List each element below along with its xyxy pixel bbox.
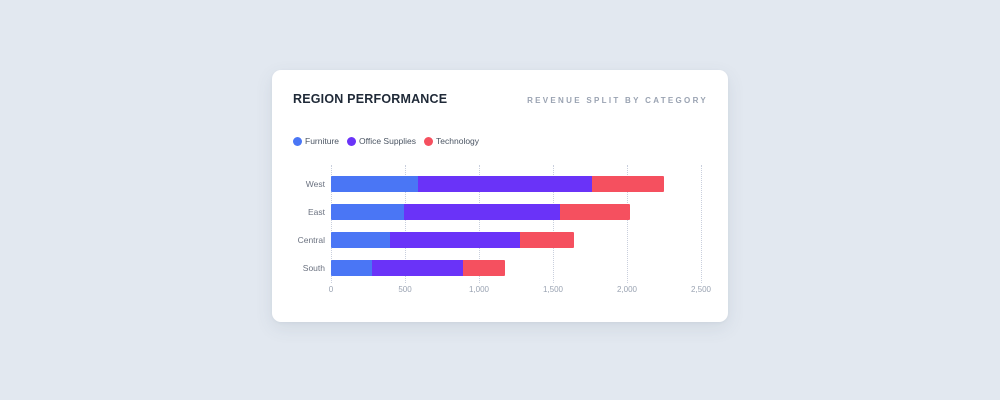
- y-axis-label: Central: [298, 232, 325, 248]
- legend-dot-icon: [424, 137, 433, 146]
- bar-row[interactable]: [331, 232, 574, 248]
- bar-segment[interactable]: [331, 204, 404, 220]
- chart-card: REGION PERFORMANCE REVENUE SPLIT BY CATE…: [272, 70, 728, 322]
- bar-segment[interactable]: [390, 232, 520, 248]
- bar-segment[interactable]: [331, 176, 418, 192]
- gridline: [701, 165, 702, 283]
- legend-dot-icon: [293, 137, 302, 146]
- bar-row[interactable]: [331, 204, 630, 220]
- bar-segment[interactable]: [463, 260, 505, 276]
- bars-and-gridlines: [331, 165, 701, 283]
- x-axis-tick-label: 2,500: [691, 285, 711, 294]
- legend-item[interactable]: Furniture: [293, 136, 339, 146]
- bar-segment[interactable]: [404, 204, 560, 220]
- screenshot-root: REGION PERFORMANCE REVENUE SPLIT BY CATE…: [0, 0, 1000, 400]
- chart-legend: FurnitureOffice SuppliesTechnology: [293, 136, 479, 146]
- bar-segment[interactable]: [418, 176, 592, 192]
- x-axis-tick-label: 2,000: [617, 285, 637, 294]
- x-axis-tick-label: 0: [329, 285, 333, 294]
- y-axis-label: East: [308, 204, 325, 220]
- chart-subtitle: REVENUE SPLIT BY CATEGORY: [527, 96, 708, 105]
- bar-segment[interactable]: [331, 232, 390, 248]
- legend-item-label: Office Supplies: [359, 136, 416, 146]
- x-axis-tick-labels: 05001,0001,5002,0002,500: [331, 285, 701, 301]
- page-title: REGION PERFORMANCE: [293, 92, 447, 106]
- y-axis-label: South: [303, 260, 325, 276]
- x-axis-tick-label: 1,000: [469, 285, 489, 294]
- legend-item[interactable]: Technology: [424, 136, 479, 146]
- legend-item-label: Furniture: [305, 136, 339, 146]
- bar-segment[interactable]: [331, 260, 372, 276]
- y-axis-label: West: [306, 176, 325, 192]
- bar-segment[interactable]: [560, 204, 630, 220]
- card-header: REGION PERFORMANCE REVENUE SPLIT BY CATE…: [293, 92, 708, 110]
- bar-row[interactable]: [331, 176, 664, 192]
- y-axis-category-labels: WestEastCentralSouth: [285, 165, 330, 283]
- bar-segment[interactable]: [592, 176, 664, 192]
- bar-segment[interactable]: [372, 260, 462, 276]
- legend-dot-icon: [347, 137, 356, 146]
- chart-plot-area: WestEastCentralSouth 05001,0001,5002,000…: [285, 165, 715, 305]
- legend-item-label: Technology: [436, 136, 479, 146]
- x-axis-tick-label: 500: [398, 285, 411, 294]
- bar-segment[interactable]: [520, 232, 573, 248]
- bar-row[interactable]: [331, 260, 505, 276]
- x-axis-tick-label: 1,500: [543, 285, 563, 294]
- legend-item[interactable]: Office Supplies: [347, 136, 416, 146]
